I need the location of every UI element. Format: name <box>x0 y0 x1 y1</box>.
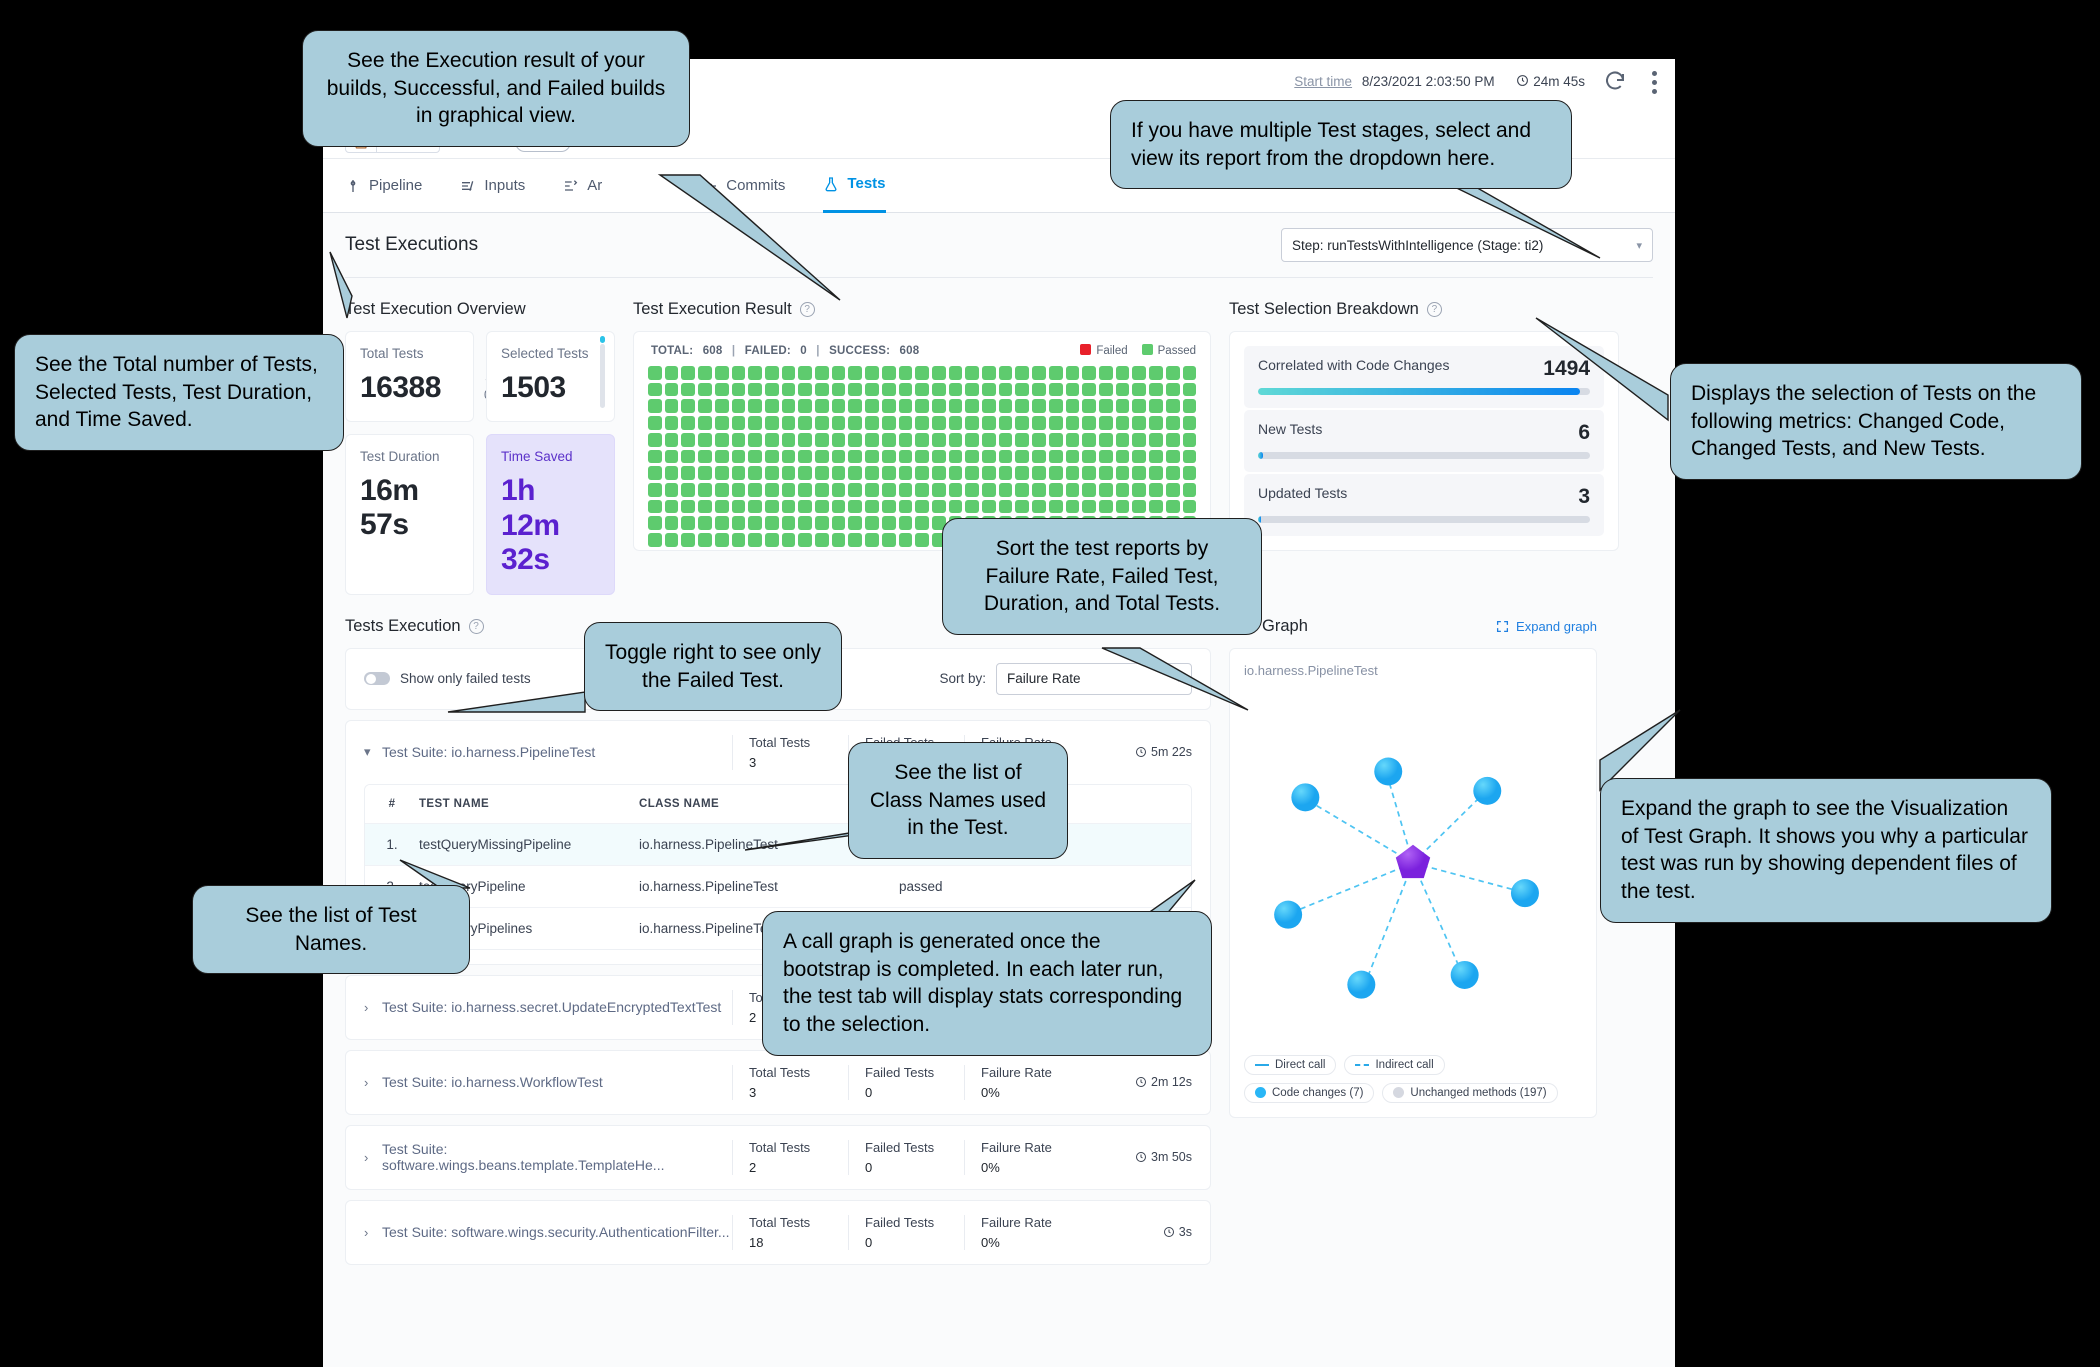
callout-selection-metrics: Displays the selection of Tests on the f… <box>1670 363 2082 480</box>
callout-totals: See the Total number of Tests, Selected … <box>14 334 344 451</box>
callout-toggle-failed: Toggle right to see only the Failed Test… <box>584 622 842 711</box>
callout-test-names: See the list of Test Names. <box>192 885 470 974</box>
callout-test-stages: If you have multiple Test stages, select… <box>1110 100 1572 189</box>
callout-tails <box>0 0 2100 1367</box>
screenshot-root: 2-backup › Start time 8/23/2021 2:03:50 … <box>0 0 2100 1367</box>
callout-sort-reports: Sort the test reports by Failure Rate, F… <box>942 518 1262 635</box>
callout-call-graph-info: A call graph is generated once the boots… <box>762 911 1212 1056</box>
callout-expand-graph: Expand the graph to see the Visualizatio… <box>1600 778 2052 923</box>
callout-execution-result: See the Execution result of your builds,… <box>302 30 690 147</box>
callout-class-names: See the list of Class Names used in the … <box>848 742 1068 859</box>
